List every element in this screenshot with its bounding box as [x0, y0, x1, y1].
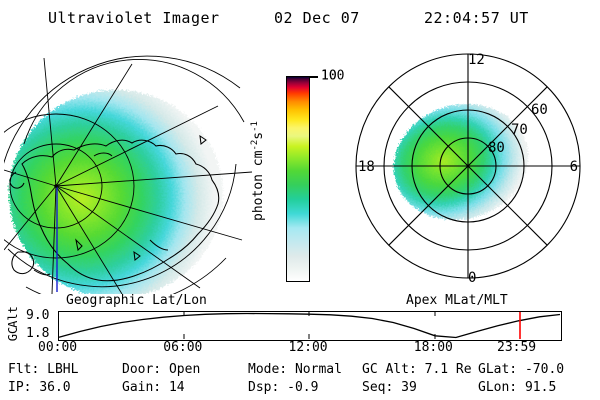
- colorbar-axis-title: photon cm-2s-1: [250, 121, 266, 221]
- geographic-image-panel[interactable]: [4, 44, 262, 294]
- status-flt: Flt: LBHL: [8, 362, 78, 377]
- strip-ylabel-alt: Alt: [6, 306, 20, 328]
- aurora-emission-geographic: [9, 90, 223, 298]
- strip-ytick-low: 1.8: [26, 326, 49, 341]
- observation-date: 02 Dec 07: [274, 9, 360, 27]
- mlt-label-18: 18: [358, 159, 375, 175]
- colorbar: photon cm-2s-1 10010: [268, 68, 344, 294]
- strip-ytick-high: 9.0: [26, 308, 49, 323]
- colorbar-ticks: 10010: [310, 76, 344, 282]
- status-label: Door:: [122, 362, 169, 377]
- mlt-label-12: 12: [468, 52, 485, 68]
- status-label: GLon:: [478, 380, 525, 395]
- status-mode: Mode: Normal: [248, 362, 342, 377]
- status-door: Door: Open: [122, 362, 200, 377]
- apex-dial: 12 18 6 0 60 70 80: [348, 44, 596, 294]
- colorbar-major-tick: [310, 76, 318, 78]
- strip-plot-svg: [59, 312, 560, 339]
- status-value: Open: [169, 362, 200, 377]
- time-axis-label: 06:00: [163, 340, 202, 355]
- status-gain: Gain: 14: [122, 380, 185, 395]
- time-axis-label: 00:00: [38, 340, 77, 355]
- status-label: Gain:: [122, 380, 169, 395]
- status-value: 14: [169, 380, 185, 395]
- status-label: Mode:: [248, 362, 295, 377]
- status-seq: Seq: 39: [362, 380, 417, 395]
- mlt-spokes: [356, 54, 580, 278]
- mlat-label-60: 60: [531, 102, 548, 118]
- time-axis-label: 12:00: [289, 340, 328, 355]
- status-label: Dsp:: [248, 380, 287, 395]
- colorbar-gradient-box: [286, 76, 310, 282]
- mlt-label-0: 0: [468, 270, 476, 286]
- status-label: Seq:: [362, 380, 401, 395]
- status-value: -70.0: [525, 362, 564, 377]
- status-value: 39: [401, 380, 417, 395]
- status-value: LBHL: [47, 362, 78, 377]
- strip-ylabel: Alt GC: [2, 308, 24, 342]
- status-value: 91.5: [525, 380, 556, 395]
- status-gcalt: GC Alt: 7.1 Re: [362, 362, 472, 377]
- mlat-label-80: 80: [488, 140, 505, 156]
- status-glon: GLon: 91.5: [478, 380, 556, 395]
- colorbar-title-main: photon cm: [251, 151, 266, 221]
- colorbar-title-mid: s: [251, 132, 266, 140]
- mlt-label-6: 6: [570, 159, 578, 175]
- status-footer: Flt: LBHLDoor: OpenMode: NormalGC Alt: 7…: [0, 362, 600, 400]
- status-dsp: Dsp: -0.9: [248, 380, 318, 395]
- status-label: IP:: [8, 380, 39, 395]
- mlat-label-70: 70: [511, 122, 528, 138]
- status-label: Flt:: [8, 362, 47, 377]
- colorbar-title-exp1: -2: [250, 140, 260, 151]
- altitude-trace: [59, 314, 560, 338]
- status-value: 7.1 Re: [425, 362, 472, 377]
- instrument-title: Ultraviolet Imager: [48, 9, 220, 27]
- status-value: Normal: [295, 362, 342, 377]
- status-value: -0.9: [287, 380, 318, 395]
- strip-time-axis: 00:0006:0012:0018:0023:59: [0, 340, 600, 360]
- apex-mlat-mlt-panel[interactable]: 12 18 6 0 60 70 80: [348, 44, 596, 294]
- colorbar-gradient: [287, 77, 309, 281]
- colorbar-tick-label: 10: [321, 69, 337, 84]
- pole-marker: [54, 184, 58, 188]
- strip-plot-area[interactable]: [58, 311, 562, 341]
- status-ip: IP: 36.0: [8, 380, 71, 395]
- status-glat: GLat: -70.0: [478, 362, 564, 377]
- status-label: GC Alt:: [362, 362, 425, 377]
- colorbar-title-exp2: -1: [250, 121, 260, 132]
- geographic-projection: [4, 44, 262, 294]
- time-axis-label: 23:59: [497, 340, 536, 355]
- strip-xticks: [184, 312, 435, 339]
- header-bar: Ultraviolet Imager 02 Dec 07 22:04:57 UT: [0, 4, 600, 32]
- status-label: GLat:: [478, 362, 525, 377]
- time-axis-label: 18:00: [414, 340, 453, 355]
- status-value: 36.0: [39, 380, 70, 395]
- observation-time: 22:04:57 UT: [424, 9, 529, 27]
